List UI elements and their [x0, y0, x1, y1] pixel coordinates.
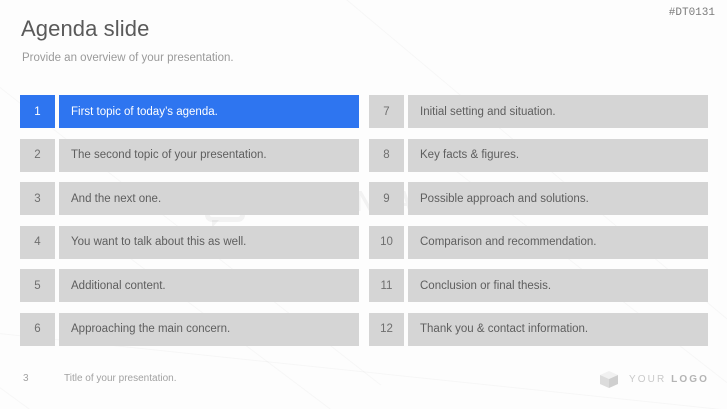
agenda-number: 1	[20, 95, 55, 128]
agenda-label: Conclusion or final thesis.	[408, 269, 708, 302]
agenda-label: First topic of today’s agenda.	[59, 95, 359, 128]
agenda-item-2[interactable]: 2 The second topic of your presentation.	[20, 139, 359, 172]
agenda-item-3[interactable]: 3 And the next one.	[20, 182, 359, 215]
agenda-number: 9	[369, 182, 404, 215]
agenda-number: 5	[20, 269, 55, 302]
agenda-number: 7	[369, 95, 404, 128]
agenda-label: Key facts & figures.	[408, 139, 708, 172]
agenda-number: 6	[20, 313, 55, 346]
agenda-grid: 1 First topic of today’s agenda. 7 Initi…	[20, 95, 708, 346]
agenda-item-9[interactable]: 9 Possible approach and solutions.	[369, 182, 708, 215]
agenda-label: Initial setting and situation.	[408, 95, 708, 128]
agenda-number: 12	[369, 313, 404, 346]
document-id: #DT0131	[669, 7, 715, 19]
agenda-number: 2	[20, 139, 55, 172]
agenda-number: 10	[369, 226, 404, 259]
agenda-label: Comparison and recommendation.	[408, 226, 708, 259]
agenda-number: 3	[20, 182, 55, 215]
agenda-label: You want to talk about this as well.	[59, 226, 359, 259]
agenda-slide: PRESENTATIONLOAD #DT0131 Agenda slide Pr…	[0, 0, 727, 409]
page-subtitle: Provide an overview of your presentation…	[22, 52, 234, 64]
agenda-item-12[interactable]: 12 Thank you & contact information.	[369, 313, 708, 346]
cube-icon	[598, 368, 620, 390]
agenda-item-6[interactable]: 6 Approaching the main concern.	[20, 313, 359, 346]
agenda-item-7[interactable]: 7 Initial setting and situation.	[369, 95, 708, 128]
agenda-number: 4	[20, 226, 55, 259]
agenda-label: Approaching the main concern.	[59, 313, 359, 346]
agenda-item-10[interactable]: 10 Comparison and recommendation.	[369, 226, 708, 259]
agenda-label: Additional content.	[59, 269, 359, 302]
agenda-item-4[interactable]: 4 You want to talk about this as well.	[20, 226, 359, 259]
agenda-label: Possible approach and solutions.	[408, 182, 708, 215]
logo-text: YOUR LOGO	[629, 374, 709, 385]
agenda-label: And the next one.	[59, 182, 359, 215]
agenda-item-8[interactable]: 8 Key facts & figures.	[369, 139, 708, 172]
logo-text-light: YOUR	[629, 374, 671, 385]
agenda-label: The second topic of your presentation.	[59, 139, 359, 172]
agenda-item-1[interactable]: 1 First topic of today’s agenda.	[20, 95, 359, 128]
agenda-item-5[interactable]: 5 Additional content.	[20, 269, 359, 302]
agenda-item-11[interactable]: 11 Conclusion or final thesis.	[369, 269, 708, 302]
logo: YOUR LOGO	[598, 368, 709, 390]
footer-presentation-title: Title of your presentation.	[64, 373, 176, 384]
logo-text-bold: LOGO	[671, 374, 709, 385]
agenda-number: 11	[369, 269, 404, 302]
agenda-label: Thank you & contact information.	[408, 313, 708, 346]
footer-page-number: 3	[23, 373, 29, 384]
page-title: Agenda slide	[21, 16, 149, 42]
agenda-number: 8	[369, 139, 404, 172]
